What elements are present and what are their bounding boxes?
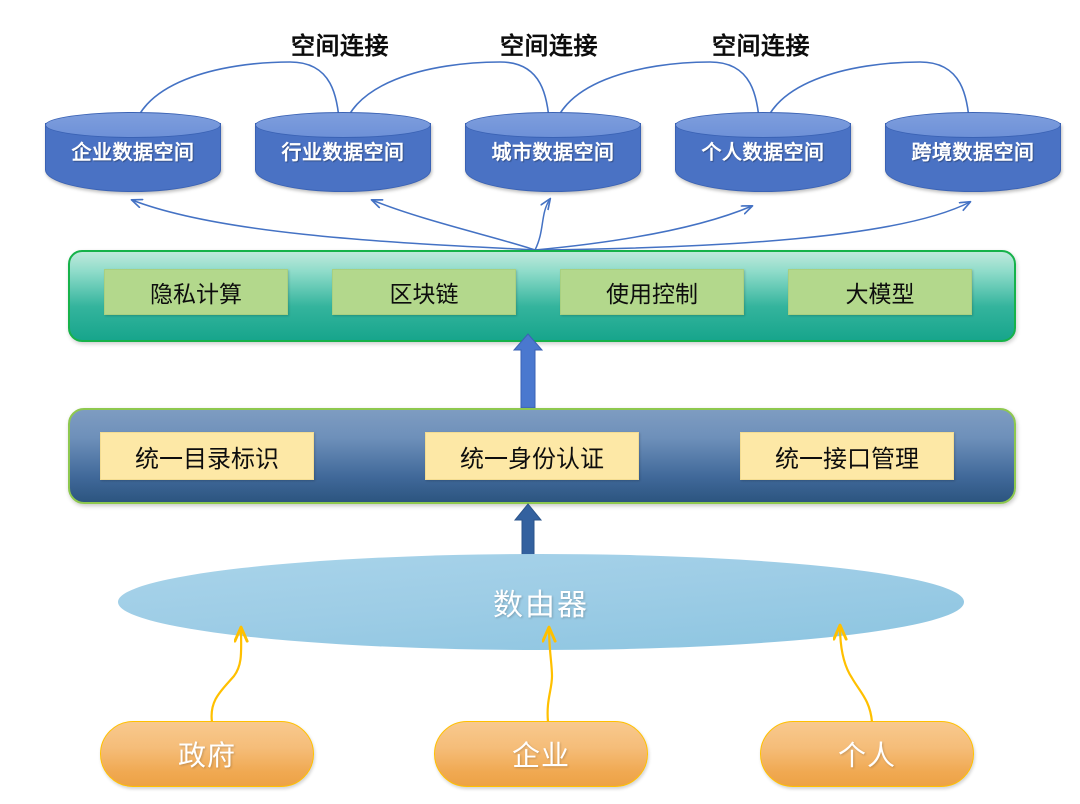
actor-pill[interactable]: 政府 [100, 721, 314, 787]
capability-chip-label: 使用控制 [606, 275, 698, 309]
actor-label: 个人 [838, 734, 896, 774]
data-space-label: 企业数据空间 [45, 142, 221, 162]
cylinder-top-ellipse [255, 112, 431, 138]
cylinder-top-ellipse [465, 112, 641, 138]
capability-chip-label: 大模型 [846, 275, 915, 309]
actor-pill[interactable]: 个人 [760, 721, 974, 787]
actor-pill[interactable]: 企业 [434, 721, 648, 787]
data-space-label: 跨境数据空间 [885, 142, 1061, 162]
connection-label-2: 空间连接 [487, 34, 611, 58]
router-label: 数由器 [493, 580, 589, 624]
cylinder-top-ellipse [45, 112, 221, 138]
capability-chip[interactable]: 区块链 [332, 269, 516, 315]
cylinder-top-ellipse [885, 112, 1061, 138]
architecture-diagram: 空间连接 空间连接 空间连接 企业数据空间 行业数据空间 [0, 0, 1080, 804]
capability-chip[interactable]: 使用控制 [560, 269, 744, 315]
capability-chip[interactable]: 大模型 [788, 269, 972, 315]
data-space-label: 个人数据空间 [675, 142, 851, 162]
unified-service-chip-label: 统一身份认证 [460, 439, 604, 474]
unified-service-chip[interactable]: 统一接口管理 [740, 432, 954, 480]
data-space-cylinder[interactable]: 跨境数据空间 [885, 112, 1061, 192]
cylinder-top-ellipse [675, 112, 851, 138]
connection-label-1: 空间连接 [278, 34, 402, 58]
unified-service-chip-label: 统一目录标识 [135, 439, 279, 474]
capability-chip-label: 区块链 [390, 275, 459, 309]
data-space-cylinder[interactable]: 个人数据空间 [675, 112, 851, 192]
actor-label: 企业 [512, 734, 570, 774]
capability-chip[interactable]: 隐私计算 [104, 269, 288, 315]
connection-label-3: 空间连接 [699, 34, 823, 58]
unified-service-band: 统一目录标识 统一身份认证 统一接口管理 [68, 408, 1016, 504]
capability-chip-label: 隐私计算 [150, 275, 242, 309]
data-space-cylinder[interactable]: 企业数据空间 [45, 112, 221, 192]
data-space-cylinder[interactable]: 行业数据空间 [255, 112, 431, 192]
data-space-label: 城市数据空间 [465, 142, 641, 162]
unified-service-chip[interactable]: 统一目录标识 [100, 432, 314, 480]
actor-label: 政府 [178, 734, 236, 774]
unified-service-chip[interactable]: 统一身份认证 [425, 432, 639, 480]
router-ellipse[interactable]: 数由器 [118, 554, 964, 650]
unified-service-chip-label: 统一接口管理 [775, 439, 919, 474]
capability-layer-band: 隐私计算 区块链 使用控制 大模型 [68, 250, 1016, 342]
data-space-cylinder[interactable]: 城市数据空间 [465, 112, 641, 192]
data-space-label: 行业数据空间 [255, 142, 431, 162]
